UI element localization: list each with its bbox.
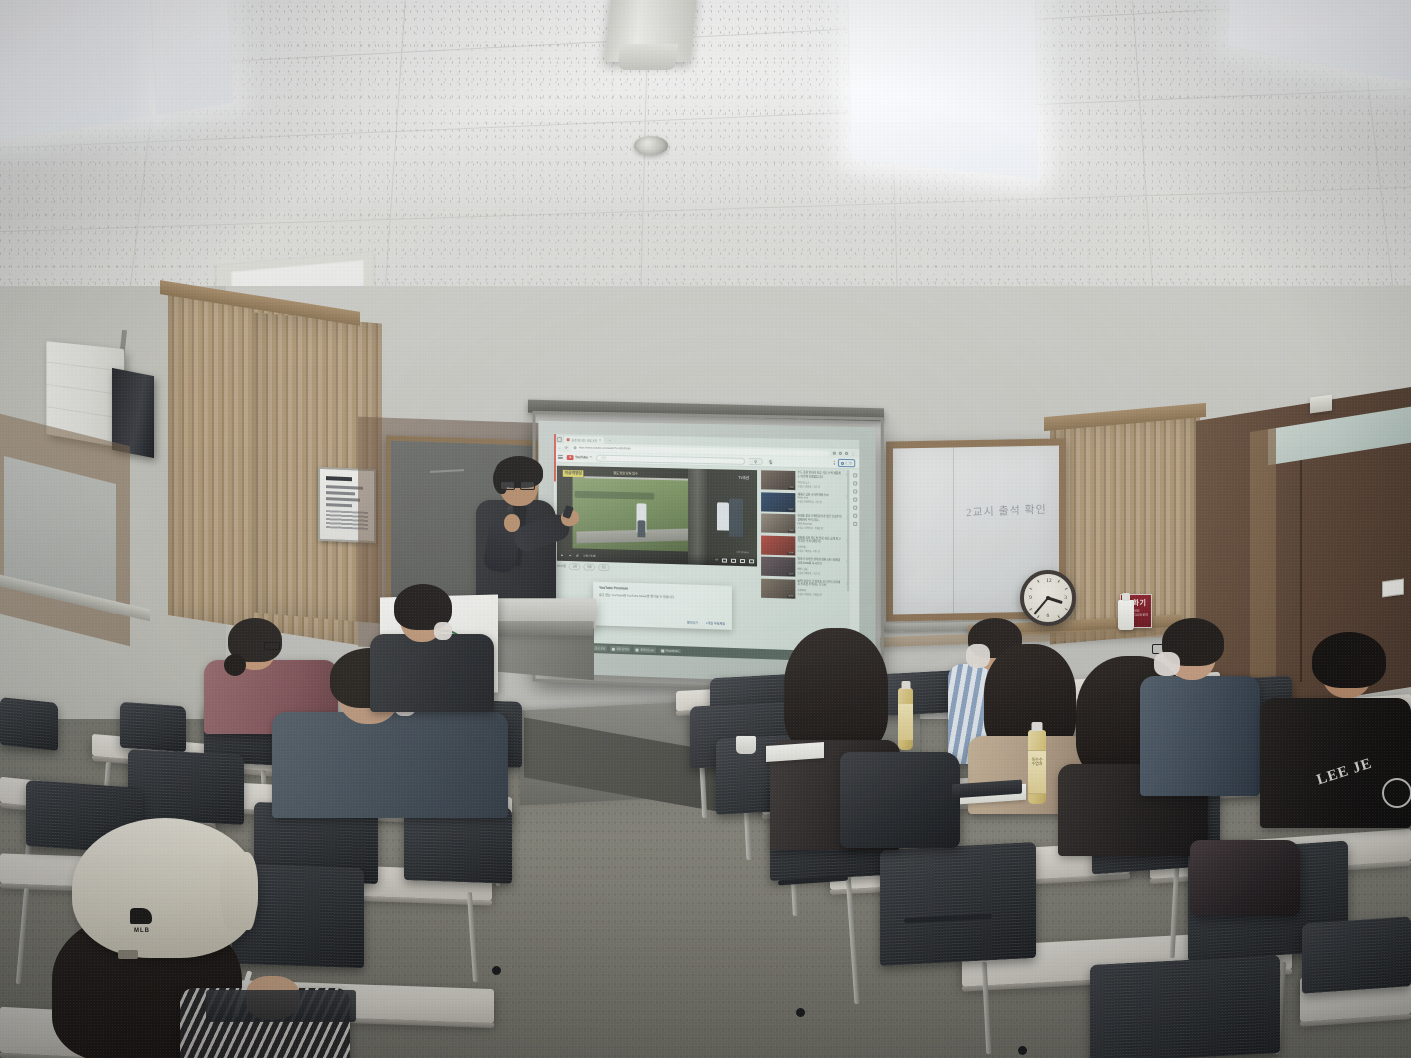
student-far-right: LEE JE	[1260, 628, 1411, 828]
student-hair	[1312, 632, 1386, 688]
presenter-glasses	[500, 481, 538, 490]
bottle-label-text: 옥수수수염차	[1030, 758, 1044, 767]
video-title[interactable]: 아내를 찾다가 배달음식과 맞은 돈봉투의 정체까지 추적 하니...	[797, 514, 842, 523]
cap-strap-buckle	[118, 950, 138, 959]
lecture-hall-photo: 2교시 출석 확인 12 3 6 9 소화기 FIRE EXTINGUISHER	[0, 0, 1411, 1058]
bottle-label	[898, 704, 913, 740]
duration-badge: 12:01	[787, 509, 794, 511]
bag-on-chair-2	[1190, 840, 1300, 916]
theater-icon[interactable]	[740, 558, 745, 562]
subtitles-button[interactable]: cc	[715, 558, 718, 561]
list-item[interactable]: 12:01 제대로 당한 조직폭력배 수사 News Live 조회수 5만9천…	[761, 492, 848, 513]
bottle-cap	[901, 681, 910, 689]
chair[interactable]	[1302, 916, 1411, 994]
list-item[interactable]: 44:10 80억 상당의 금 밀반출 신고부터 검거까지 전과정 추적하는 보…	[761, 578, 848, 600]
cap-logo-mark	[130, 908, 152, 924]
folder-icon	[612, 647, 615, 650]
hand-sanitizer-bottle	[1118, 600, 1134, 630]
student-left-behind-flipchart	[366, 582, 496, 712]
room-number-placard	[1382, 578, 1404, 597]
search-icon[interactable]	[853, 473, 857, 477]
lectern-top	[483, 598, 596, 628]
video-player[interactable]: 미공개영상 절도 현장 단독 입수 TV조선 CH.Chosun ▶ ⏭ 🔊 1…	[557, 466, 757, 567]
browser-menu-icon[interactable]: ⋮	[851, 451, 855, 456]
report-button[interactable]: 신고	[598, 564, 610, 571]
student-ponytail	[224, 654, 246, 676]
video-title[interactable]: 경찰에 잡힌 절도범 얼굴 처음 공개 최고의 탐문 수사 (제보자)	[797, 536, 842, 545]
wall-notice-title	[326, 476, 352, 481]
paper-cup	[736, 736, 756, 754]
search-icon[interactable]: ⚲	[749, 457, 763, 464]
drink-bottle-green-tea	[898, 688, 913, 750]
video-stats: 조회수 99만회 · 1년 전	[797, 570, 842, 575]
youtube-country-code: KR	[590, 457, 593, 459]
taskbar-item-powerpoint[interactable]: PowerPoint	[659, 648, 681, 653]
projector-ceiling-mount	[604, 0, 697, 62]
microphone-icon[interactable]: 🎙	[767, 458, 774, 465]
chair-caster	[796, 1008, 805, 1017]
duration-badge: 9:14	[788, 487, 794, 489]
list-item[interactable]: 21:47 엄마가 자식을 살려낸 실화 1편 | 실화탐사대 1004회 다시…	[761, 557, 848, 579]
search-input[interactable]: 검색	[596, 454, 745, 464]
profile-avatar-icon[interactable]	[845, 452, 848, 455]
premium-learn-more-button[interactable]: 알아보기	[687, 620, 698, 624]
chair[interactable]	[120, 702, 186, 753]
like-icon[interactable]	[853, 522, 857, 526]
tablet-on-desk	[206, 990, 356, 1022]
tab-close-icon[interactable]: ✕	[599, 439, 601, 442]
trending-icon[interactable]	[853, 489, 857, 493]
bookmark-star-icon[interactable]	[833, 452, 836, 455]
student-glasses	[428, 610, 446, 619]
thumbnail[interactable]: 44:10	[761, 578, 795, 598]
tab-title: 충격적인 절도 현장 포착	[572, 438, 598, 442]
drink-bottle-corn-tea: 옥수수수염차	[1028, 730, 1046, 804]
student-face-mask	[434, 622, 452, 640]
premium-description: 광고 없는 YouTube와 YouTube Music을 즐기실 수 있습니다	[599, 593, 726, 601]
chair[interactable]	[0, 697, 58, 751]
student-torso	[1260, 698, 1411, 828]
thumbnail[interactable]: 8:05	[761, 513, 795, 533]
premium-free-trial-button[interactable]: 1개월 무료체험	[706, 621, 725, 626]
youtube-header-actions[interactable]: 로그인	[834, 459, 856, 467]
student-face-mask	[1154, 652, 1180, 676]
url-text: https://www.youtube.com/watch?v=4J0UGHjh	[579, 446, 631, 450]
thumbnail[interactable]: 21:47	[761, 557, 795, 577]
thumbnail[interactable]: 15:33	[761, 535, 795, 555]
extensions-icon[interactable]	[839, 452, 842, 455]
whiteboard-handwriting: 2교시 출석 확인	[966, 501, 1047, 521]
student-long-hair	[784, 628, 888, 754]
video-title[interactable]: 80억 상당의 금 밀반출 신고부터 검거까지 전과정 추적하는 보고서	[797, 579, 842, 588]
video-stats: 조회수 234만회 · 3개월 전	[797, 525, 842, 530]
avatar-icon	[841, 461, 844, 464]
fullscreen-icon[interactable]	[749, 559, 754, 563]
taskbar-item-ppt-file[interactable]: 회의자료.ppt	[634, 647, 656, 653]
video-stats: 조회수 43만회 · 5개월 전	[797, 592, 842, 597]
shirt-print-mark	[1382, 778, 1411, 808]
history-icon[interactable]	[853, 506, 857, 510]
reload-icon[interactable]: ⟳	[565, 445, 568, 450]
video-stats: 조회수 78만회 · 2주 전	[797, 549, 842, 554]
youtube-premium-card[interactable]: YouTube Premium 광고 없는 YouTube와 YouTube M…	[593, 582, 732, 630]
browser-tab-active[interactable]: 충격적인 절도 현장 포착 ✕	[564, 436, 604, 444]
clock-icon[interactable]	[853, 514, 857, 518]
video-overlay-subtitle: 절도 현장 단독 입수	[612, 471, 638, 476]
student-torso	[1140, 676, 1260, 796]
duration-badge: 21:47	[787, 573, 794, 575]
wall-sconce-right	[1310, 394, 1332, 413]
list-item[interactable]: 9:14 수도·홍천 반지하 현금 기습 수색 생중계는 이렇게 진행됐습니다 …	[761, 470, 848, 491]
powerpoint-icon	[661, 649, 664, 652]
thumbnail[interactable]: 9:14	[761, 470, 795, 490]
cap-logo-text: MLB	[134, 928, 150, 934]
video-stats: 조회수 12만회 · 1년 전	[797, 484, 842, 489]
video-title[interactable]: 엄마가 자식을 살려낸 실화 1편 | 실화탐사대 1004회 다시보기	[797, 558, 842, 567]
kebab-menu-icon[interactable]	[834, 461, 835, 465]
cap-brim	[220, 852, 258, 930]
presenter-hand-right	[504, 514, 520, 532]
tab-overview-icon[interactable]	[557, 437, 562, 442]
powerpoint-icon	[636, 648, 639, 651]
chair[interactable]	[880, 842, 1036, 966]
lock-icon	[574, 446, 577, 449]
player-time: 1:42 / 5:18	[583, 555, 595, 558]
chair[interactable]	[1090, 955, 1280, 1058]
search-input-text: 검색	[601, 456, 606, 460]
student-foreground-cap: MLB	[30, 800, 350, 1058]
ceiling-light-panel	[149, 0, 234, 116]
list-item[interactable]: 8:05 아내를 찾다가 배달음식과 맞은 돈봉투의 정체까지 추적 하니...…	[761, 513, 848, 534]
student-right-glasses	[1140, 618, 1264, 798]
student-torso	[370, 634, 494, 712]
page-scrollbar[interactable]	[847, 470, 849, 591]
back-icon[interactable]: ←	[558, 445, 562, 450]
video-stats: 조회수 5만9천회 · 2년 전	[797, 500, 842, 505]
thumbnail[interactable]: 12:01	[761, 492, 795, 512]
ceiling-light-panel	[847, 0, 1039, 179]
sign-in-label: 로그인	[845, 461, 852, 465]
video-broadcaster-logo: TV조선	[738, 475, 749, 480]
video-title[interactable]: 수도·홍천 반지하 현금 기습 수색 생중계는 이렇게 진행됐습니다	[797, 471, 842, 480]
sign-in-button[interactable]: 로그인	[838, 459, 855, 467]
save-button[interactable]: 저장	[584, 563, 596, 570]
gear-icon[interactable]	[722, 558, 727, 562]
library-icon[interactable]	[853, 498, 857, 502]
new-tab-button[interactable]: +	[606, 437, 613, 444]
duration-badge: 8:05	[788, 530, 794, 532]
compass-icon[interactable]	[853, 481, 857, 485]
chair-caster	[492, 966, 501, 975]
chair-caster	[1018, 1046, 1027, 1055]
miniplayer-icon[interactable]	[731, 558, 736, 562]
duration-badge: 44:10	[787, 595, 794, 597]
duration-badge: 15:33	[787, 552, 794, 554]
taskbar-item-explorer[interactable]: 파일 탐색기	[610, 646, 631, 652]
bag-on-chair	[840, 752, 960, 848]
list-item[interactable]: 15:33 경찰에 잡힌 절도범 얼굴 처음 공개 최고의 탐문 수사 (제보자…	[761, 535, 848, 557]
video-title[interactable]: 제대로 당한 조직폭력배 수사	[797, 493, 842, 498]
bottle-cap	[1032, 722, 1043, 731]
youtube-favicon	[567, 438, 570, 441]
